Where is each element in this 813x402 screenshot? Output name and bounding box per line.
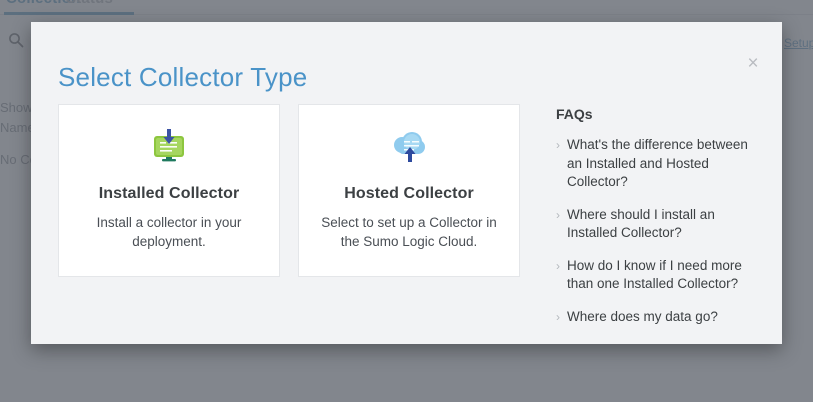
- faq-item[interactable]: › How do I know if I need more than one …: [556, 257, 762, 294]
- dialog-body: Installed Collector Install a collector …: [58, 104, 762, 340]
- card-title: Hosted Collector: [344, 185, 474, 203]
- card-installed-collector[interactable]: Installed Collector Install a collector …: [58, 104, 280, 277]
- chevron-right-icon: ›: [556, 136, 567, 154]
- installed-collector-monitor-download-icon: [146, 127, 192, 173]
- select-collector-type-dialog: × Select Collector Type: [31, 22, 782, 344]
- card-description: Install a collector in your deployment.: [80, 213, 258, 251]
- hosted-collector-cloud-upload-icon: [386, 127, 432, 173]
- chevron-right-icon: ›: [556, 308, 567, 326]
- chevron-right-icon: ›: [556, 206, 567, 224]
- faq-section: FAQs › What's the difference between an …: [556, 104, 762, 340]
- faq-item-label[interactable]: How do I know if I need more than one In…: [567, 257, 762, 294]
- card-title: Installed Collector: [99, 185, 240, 203]
- faq-item[interactable]: › What's the difference between an Insta…: [556, 136, 762, 192]
- faq-item[interactable]: › Where should I install an Installed Co…: [556, 206, 762, 243]
- page-title: Select Collector Type: [58, 62, 307, 93]
- faq-heading: FAQs: [556, 106, 762, 122]
- faq-item[interactable]: › Where does my data go?: [556, 308, 762, 327]
- chevron-right-icon: ›: [556, 257, 567, 275]
- faq-item-label[interactable]: Where does my data go?: [567, 308, 718, 327]
- faq-item-label[interactable]: What's the difference between an Install…: [567, 136, 762, 192]
- close-icon[interactable]: ×: [741, 52, 765, 76]
- collector-type-card-list: Installed Collector Install a collector …: [58, 104, 520, 340]
- faq-item-label[interactable]: Where should I install an Installed Coll…: [567, 206, 762, 243]
- card-hosted-collector[interactable]: Hosted Collector Select to set up a Coll…: [298, 104, 520, 277]
- card-description: Select to set up a Collector in the Sumo…: [320, 213, 498, 251]
